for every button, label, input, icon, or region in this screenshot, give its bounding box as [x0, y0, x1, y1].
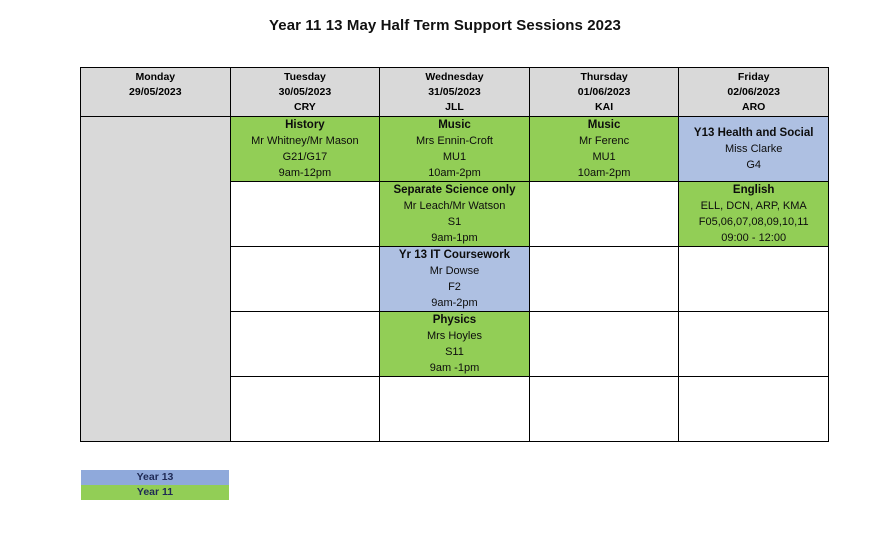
header-day: Thursday: [530, 70, 679, 85]
session-room: G21/G17: [231, 149, 380, 165]
header-date: 01/06/2023: [530, 85, 679, 100]
legend-label-year11: Year 11: [81, 485, 229, 500]
legend-row-year11: Year 11: [81, 485, 229, 500]
header-staff-code: JLL: [380, 100, 529, 114]
session-cell-wednesday-1[interactable]: Music Mrs Ennin-Croft MU1 10am-2pm: [380, 117, 530, 182]
header-day: Friday: [679, 70, 828, 85]
table-row: History Mr Whitney/Mr Mason G21/G17 9am-…: [81, 117, 829, 182]
header-date: 02/06/2023: [679, 85, 828, 100]
header-day: Monday: [81, 70, 230, 85]
session-staff: Mr Whitney/Mr Mason: [231, 133, 380, 149]
legend-label-year13: Year 13: [81, 470, 229, 485]
header-staff-code: [81, 100, 230, 114]
session-staff: Miss Clarke: [679, 141, 828, 157]
session-time: 9am-2pm: [380, 295, 529, 311]
monday-empty-block: [81, 117, 231, 442]
session-subject: Physics: [380, 312, 529, 328]
session-cell-tuesday-2[interactable]: [230, 182, 380, 247]
session-staff: Mr Ferenc: [530, 133, 679, 149]
column-header-monday: Monday 29/05/2023: [81, 68, 231, 117]
header-date: 30/05/2023: [231, 85, 380, 100]
column-header-friday: Friday 02/06/2023 ARO: [679, 68, 829, 117]
session-cell-thursday-1[interactable]: Music Mr Ferenc MU1 10am-2pm: [529, 117, 679, 182]
table-header-row: Monday 29/05/2023 Tuesday 30/05/2023 CRY…: [81, 68, 829, 117]
session-cell-tuesday-1[interactable]: History Mr Whitney/Mr Mason G21/G17 9am-…: [230, 117, 380, 182]
session-time: 9am -1pm: [380, 360, 529, 376]
session-time: 09:00 - 12:00: [679, 230, 828, 246]
session-staff: ELL, DCN, ARP, KMA: [679, 198, 828, 214]
session-staff: Mr Dowse: [380, 263, 529, 279]
session-room: S1: [380, 214, 529, 230]
header-date: 31/05/2023: [380, 85, 529, 100]
session-cell-thursday-4[interactable]: [529, 312, 679, 377]
header-day: Wednesday: [380, 70, 529, 85]
colour-key-legend: Year 13 Year 11: [81, 470, 229, 500]
session-cell-thursday-2[interactable]: [529, 182, 679, 247]
session-room: G4: [679, 157, 828, 173]
session-cell-tuesday-4[interactable]: [230, 312, 380, 377]
session-cell-wednesday-2[interactable]: Separate Science only Mr Leach/Mr Watson…: [380, 182, 530, 247]
header-date: 29/05/2023: [81, 85, 230, 100]
support-sessions-table: Monday 29/05/2023 Tuesday 30/05/2023 CRY…: [80, 67, 829, 442]
session-cell-tuesday-3[interactable]: [230, 247, 380, 312]
session-subject: Yr 13 IT Coursework: [380, 247, 529, 263]
column-header-tuesday: Tuesday 30/05/2023 CRY: [230, 68, 380, 117]
session-time: 10am-2pm: [530, 165, 679, 181]
session-staff: Mrs Hoyles: [380, 328, 529, 344]
session-room: MU1: [380, 149, 529, 165]
session-cell-friday-2[interactable]: English ELL, DCN, ARP, KMA F05,06,07,08,…: [679, 182, 829, 247]
session-room: MU1: [530, 149, 679, 165]
session-cell-friday-5[interactable]: [679, 377, 829, 442]
legend-row-year13: Year 13: [81, 470, 229, 485]
column-header-wednesday: Wednesday 31/05/2023 JLL: [380, 68, 530, 117]
session-subject: English: [679, 182, 828, 198]
session-cell-friday-4[interactable]: [679, 312, 829, 377]
session-room: F2: [380, 279, 529, 295]
header-staff-code: CRY: [231, 100, 380, 114]
session-staff: Mr Leach/Mr Watson: [380, 198, 529, 214]
session-staff: Mrs Ennin-Croft: [380, 133, 529, 149]
session-cell-thursday-3[interactable]: [529, 247, 679, 312]
session-subject: Y13 Health and Social: [679, 125, 828, 141]
session-time: 10am-2pm: [380, 165, 529, 181]
column-header-thursday: Thursday 01/06/2023 KAI: [529, 68, 679, 117]
session-room: F05,06,07,08,09,10,11: [679, 214, 828, 230]
header-staff-code: KAI: [530, 100, 679, 114]
session-subject: History: [231, 117, 380, 133]
session-cell-wednesday-4[interactable]: Physics Mrs Hoyles S11 9am -1pm: [380, 312, 530, 377]
header-day: Tuesday: [231, 70, 380, 85]
session-room: S11: [380, 344, 529, 360]
session-time: 9am-1pm: [380, 230, 529, 246]
session-cell-thursday-5[interactable]: [529, 377, 679, 442]
page-title: Year 11 13 May Half Term Support Session…: [0, 17, 890, 34]
session-subject: Music: [380, 117, 529, 133]
timetable-page: Year 11 13 May Half Term Support Session…: [0, 0, 890, 550]
session-time: 9am-12pm: [231, 165, 380, 181]
session-cell-wednesday-3[interactable]: Yr 13 IT Coursework Mr Dowse F2 9am-2pm: [380, 247, 530, 312]
session-subject: Music: [530, 117, 679, 133]
session-cell-tuesday-5[interactable]: [230, 377, 380, 442]
session-cell-wednesday-5[interactable]: [380, 377, 530, 442]
session-subject: Separate Science only: [380, 182, 529, 198]
header-staff-code: ARO: [679, 100, 828, 114]
session-cell-friday-1[interactable]: Y13 Health and Social Miss Clarke G4: [679, 117, 829, 182]
session-cell-friday-3[interactable]: [679, 247, 829, 312]
